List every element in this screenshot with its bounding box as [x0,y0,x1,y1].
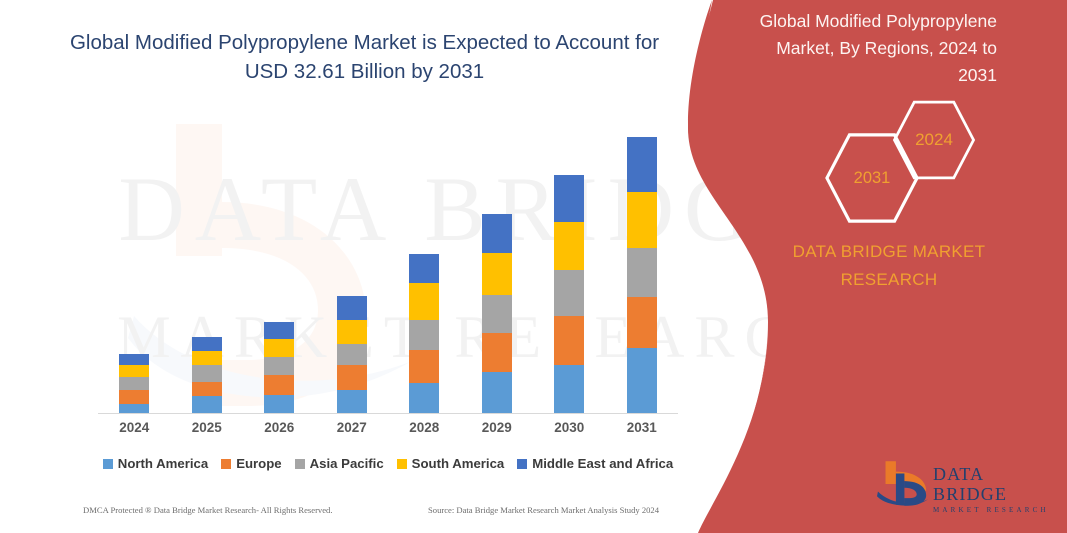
x-axis-label: 2031 [606,420,678,435]
bar-segment [264,357,294,375]
x-axis-label: 2027 [316,420,388,435]
badge-start-year: 2031 [823,129,921,227]
bar-column [554,175,584,413]
infographic-canvas: DATA BRIDGE MARKET RESEARCH Global Modif… [0,0,1067,533]
x-axis-labels: 20242025202620272028202920302031 [98,420,678,444]
bar-column [192,337,222,413]
bar-segment [409,283,439,320]
chart-panel: Global Modified Polypropylene Market is … [0,0,715,533]
bar-segment [337,344,367,365]
bar-segment [482,295,512,333]
bar-segment [627,297,657,348]
bar-segment [192,396,222,413]
chart-legend: North AmericaEuropeAsia PacificSouth Ame… [98,456,678,471]
bar-segment [337,320,367,344]
bar-segment [119,365,149,377]
bar-column [409,254,439,413]
bar-segment [119,377,149,390]
bar-segment [409,254,439,283]
x-axis-label: 2026 [243,420,315,435]
bar-segment [482,372,512,413]
x-axis-label: 2029 [461,420,533,435]
bar-column [627,137,657,413]
legend-swatch [517,459,527,469]
bar-segment [337,296,367,320]
legend-item: Asia Pacific [295,456,384,471]
bar-segment [627,192,657,248]
b-logo-icon [877,458,929,508]
legend-label: Europe [236,456,281,471]
page-title: Global Modified Polypropylene Market is … [52,28,677,86]
bar-segment [119,390,149,404]
legend-swatch [295,459,305,469]
bar-column [264,322,294,413]
bar-segment [192,382,222,396]
bar-segment [627,137,657,192]
legend-label: Middle East and Africa [532,456,673,471]
footer-source: Source: Data Bridge Market Research Mark… [428,505,659,515]
bar-segment [482,214,512,253]
bar-segment [554,270,584,316]
logo-line-1: DATA BRIDGE [933,464,1057,504]
bar-segment [554,222,584,270]
x-axis-label: 2024 [98,420,170,435]
footer-copyright: DMCA Protected ® Data Bridge Market Rese… [83,505,333,515]
x-axis-line [98,413,678,414]
bar-segment [264,395,294,413]
bar-segment [409,350,439,383]
brand-panel-content: Global Modified Polypropylene Market, By… [745,0,1067,533]
bar-segment [482,253,512,295]
bar-column [482,214,512,413]
bar-segment [264,339,294,357]
legend-item: Middle East and Africa [517,456,673,471]
stacked-bar-chart [98,120,678,413]
legend-item: South America [397,456,505,471]
bar-segment [264,322,294,339]
panel-title: Global Modified Polypropylene Market, By… [745,8,997,89]
legend-label: Asia Pacific [310,456,384,471]
bar-segment [554,316,584,365]
logo-wordmark: DATA BRIDGE MARKET RESEARCH [933,464,1057,516]
legend-item: Europe [221,456,281,471]
bar-segment [482,333,512,372]
bar-segment [192,351,222,365]
legend-item: North America [103,456,208,471]
badge-start-year-label: 2031 [823,129,921,227]
bar-segment [627,348,657,413]
bar-segment [409,320,439,350]
bar-segment [264,375,294,395]
legend-swatch [397,459,407,469]
bar-segment [192,365,222,382]
bar-segment [409,383,439,413]
legend-label: South America [412,456,505,471]
bar-column [119,354,149,413]
bar-segment [554,365,584,413]
bar-segment [337,365,367,390]
company-logo: DATA BRIDGE MARKET RESEARCH [877,456,1057,512]
bar-segment [554,175,584,222]
bar-segment [337,390,367,413]
bar-segment [627,248,657,297]
legend-swatch [221,459,231,469]
bar-segment [192,337,222,351]
x-axis-label: 2030 [533,420,605,435]
x-axis-label: 2025 [171,420,243,435]
legend-swatch [103,459,113,469]
bar-column [337,296,367,413]
bar-segment [119,404,149,413]
x-axis-label: 2028 [388,420,460,435]
legend-label: North America [118,456,208,471]
brand-name: DATA BRIDGE MARKET RESEARCH [759,238,1019,294]
bar-segment [119,354,149,365]
logo-line-2: MARKET RESEARCH [933,504,1057,516]
footer: DMCA Protected ® Data Bridge Market Rese… [0,505,715,525]
year-badges: 2024 2031 [745,95,1045,210]
